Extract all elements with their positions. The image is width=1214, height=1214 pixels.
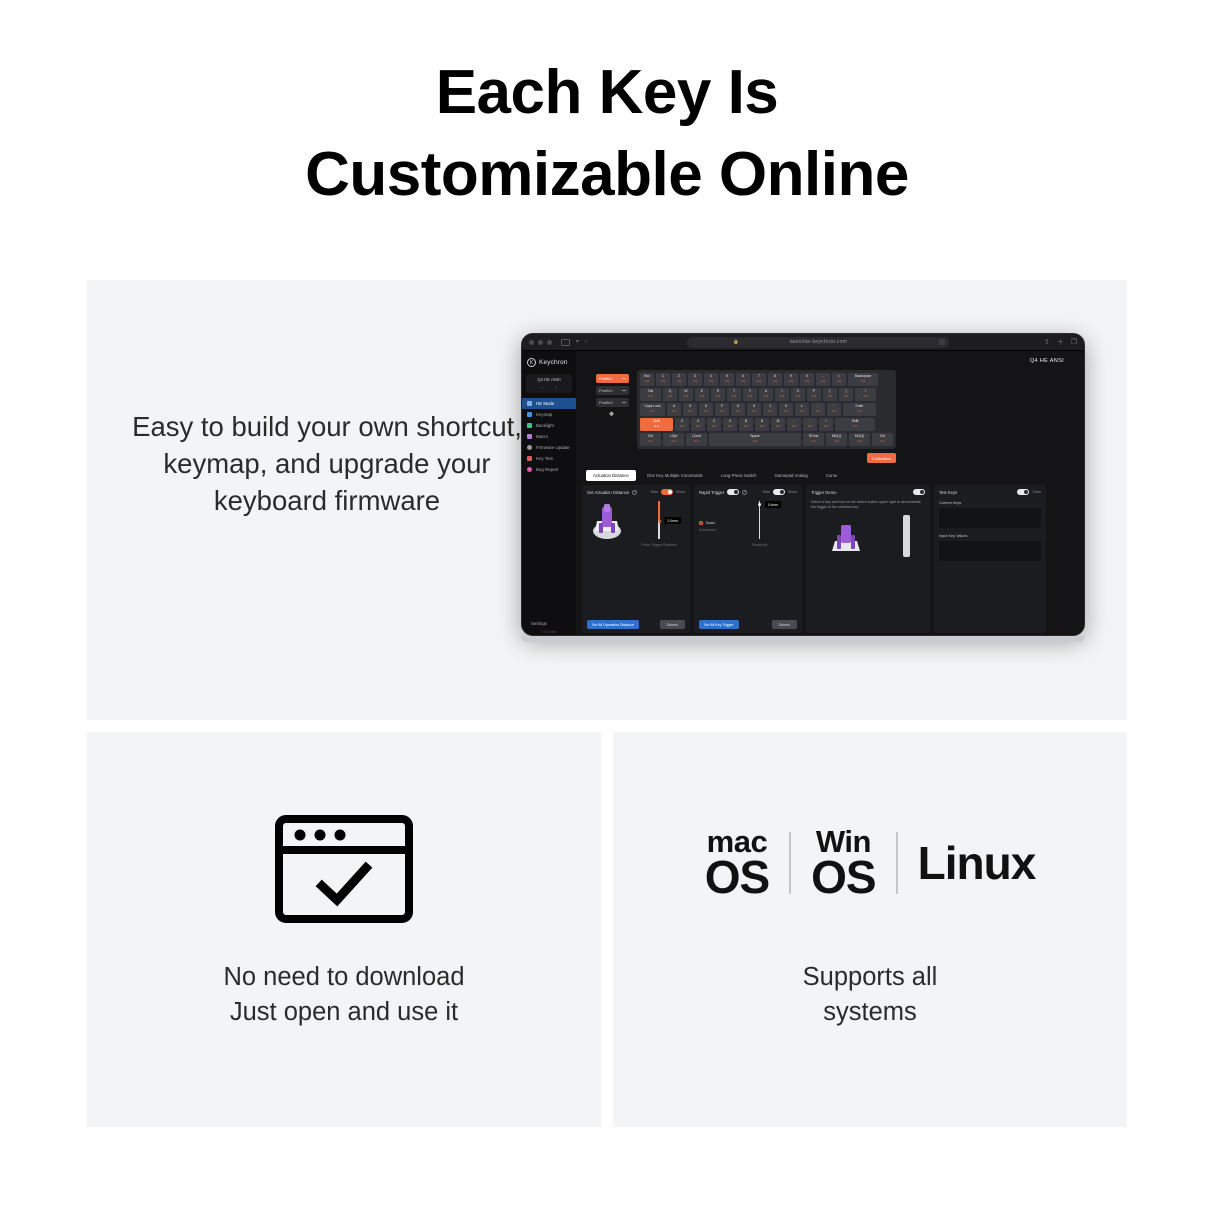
option-basic-label: Basic (706, 521, 715, 525)
key--[interactable]: .2.0 (803, 418, 817, 431)
key-actuation-value: 2.0 (696, 425, 700, 428)
option-advanced-label: Advanced (699, 528, 716, 532)
key-actuation-value: 2.0 (834, 440, 838, 443)
key-actuation-value: 2.0 (744, 425, 748, 428)
key-h[interactable]: H2.0 (747, 403, 761, 416)
key-space[interactable]: Space2.0 (709, 433, 801, 446)
key--[interactable]: =2.0 (832, 373, 846, 386)
laptop-base (521, 636, 1085, 642)
key-actuation-value: 2.0 (712, 425, 716, 428)
backlight-icon (527, 423, 532, 428)
key-actuation-value: 2.0 (796, 395, 800, 398)
os-linux: Linux (918, 842, 1036, 885)
key-6[interactable]: 62.0 (736, 373, 750, 386)
sidebar-label-keymap: Keymap (536, 412, 552, 417)
set-all-key-trigger-button[interactable]: Set All Key Trigger (699, 620, 739, 629)
key-z[interactable]: Z2.0 (675, 418, 689, 431)
key-actuation-value: 2.0 (863, 395, 867, 398)
profile-3-label: Profile3 (599, 400, 613, 405)
key-actuation-value: 2.0 (752, 410, 756, 413)
tab-actuation-distance[interactable]: Actuation Distance (586, 470, 636, 481)
profile-1-button[interactable]: Profile1 (596, 374, 629, 383)
rapid-trigger-enable-toggle[interactable] (727, 489, 739, 495)
key--[interactable]: \2.0 (855, 388, 876, 401)
minimize-icon[interactable] (538, 340, 543, 345)
keymap-icon (527, 412, 532, 417)
key-actuation-value: 2.0 (741, 380, 745, 383)
key-0[interactable]: 02.0 (800, 373, 814, 386)
key-actuation-value: 2.0 (732, 395, 736, 398)
test-keys-toggle[interactable] (1017, 489, 1029, 495)
sidebar-item-he-mode[interactable]: HE Mode (522, 398, 576, 409)
input-key-values-field[interactable] (939, 541, 1041, 561)
panel-title-rapid-trigger: Rapid Trigger (699, 490, 724, 495)
key-5[interactable]: 52.0 (720, 373, 734, 386)
os-logos: mac OS Win OS Linux (613, 827, 1127, 899)
actuation-submit-button[interactable]: Submit (660, 620, 685, 629)
key-actuation-value: 2.0 (716, 395, 720, 398)
panel-header: Set Actuation Distance ? Hide Show (587, 489, 685, 495)
launcher-app: K Keychron Q4 HE ANSI ⌁ ⌁ HE Mode (522, 351, 1084, 636)
key-actuation-value: 2.0 (728, 425, 732, 428)
lock-icon: 🔒 (733, 339, 739, 345)
profile-3-button[interactable]: Profile3 (596, 398, 629, 407)
key-esc[interactable]: Esc2.0 (640, 373, 654, 386)
key-a[interactable]: A2.0 (667, 403, 681, 416)
usb-icon: ⌁ (541, 385, 543, 390)
os-windows: Win OS (811, 827, 875, 899)
brand: K Keychron (522, 355, 576, 371)
device-status-icons: ⌁ ⌁ (526, 385, 572, 390)
key-actuation-value: 2.0 (725, 380, 729, 383)
key-actuation-value: 2.0 (757, 380, 761, 383)
key-b[interactable]: B2.0 (739, 418, 753, 431)
sidebar-label-key-test: Key Test (536, 456, 553, 461)
profile-2-label: Profile2 (599, 388, 613, 393)
browser-check-icon (274, 814, 414, 929)
key-actuation-value: 2.0 (648, 395, 652, 398)
actuation-visibility-toggle[interactable]: Hide Show (651, 489, 685, 495)
key-actuation-value: 2.0 (837, 380, 841, 383)
key-actuation-value: 2.0 (857, 410, 861, 413)
sidebar-label-firmware: Firmware Update (536, 445, 570, 450)
option-basic[interactable]: Basic (699, 521, 716, 525)
key--[interactable]: ;2.0 (811, 403, 825, 416)
calibration-button[interactable]: Calibration (867, 453, 896, 463)
key-actuation-value: 2.0 (645, 380, 649, 383)
macro-icon (527, 434, 532, 439)
key-actuation-value: 2.0 (824, 425, 828, 428)
key-mo-4-[interactable]: MO(4)2.0 (849, 433, 870, 446)
feature-card-no-download: No need to download Just open and use it (87, 732, 601, 1127)
key-rcmd[interactable]: RCmd2.0 (803, 433, 824, 446)
key-backspace[interactable]: Backspace2.0 (848, 373, 878, 386)
profile-column: Profile1 Profile2 Profile3 (596, 370, 629, 463)
key-k[interactable]: K2.0 (779, 403, 793, 416)
headline-line-1: Each Key Is (436, 58, 779, 127)
key-8[interactable]: 82.0 (768, 373, 782, 386)
key-actuation-value: 2.0 (668, 395, 672, 398)
key-actuation-value: 2.0 (700, 395, 704, 398)
key-actuation-value: 2.0 (720, 410, 724, 413)
sidebar-label-settings: Settings (531, 621, 547, 626)
toggle-switch[interactable] (661, 489, 673, 495)
bug-report-icon (527, 467, 532, 472)
key-actuation-value: 2.0 (671, 440, 675, 443)
profile-list: Profile1 Profile2 Profile3 (596, 370, 629, 407)
key--[interactable]: [2.0 (823, 388, 837, 401)
panel-title-trigger-demo: Trigger Demo (811, 490, 836, 495)
key-ctrl[interactable]: Ctrl2.0 (872, 433, 893, 446)
panel-header: Trigger Demo (811, 489, 925, 495)
key-f[interactable]: F2.0 (715, 403, 729, 416)
key-4[interactable]: 42.0 (704, 373, 718, 386)
sidebar-item-keymap[interactable]: Keymap (522, 409, 576, 420)
panel-test-keys: Test Keys Clear Current Keys Input Key V… (934, 485, 1046, 633)
device-name: Q4 HE ANSI (526, 377, 572, 382)
winos-bottom: OS (811, 856, 875, 899)
chevron-left-icon[interactable]: ‹ (585, 339, 587, 346)
slider-value-bubble: 0.4mm (765, 501, 781, 508)
key-actuation-value: 2.0 (805, 380, 809, 383)
keyboard-wrap: Esc2.012.022.032.042.052.062.072.082.092… (637, 370, 896, 463)
key-o[interactable]: O2.0 (791, 388, 805, 401)
he-mode-icon (527, 401, 532, 406)
settings-panels: Set Actuation Distance ? Hide Show (582, 485, 1078, 633)
firmware-icon (527, 445, 532, 450)
key-actuation-value: 2.0 (816, 410, 820, 413)
key-p[interactable]: P2.0 (807, 388, 821, 401)
key-m[interactable]: M2.0 (771, 418, 785, 431)
panel-header: Test Keys Clear (939, 489, 1041, 495)
trigger-depth-indicator (903, 515, 910, 557)
current-keys-field[interactable] (939, 508, 1041, 528)
panel-header: Rapid Trigger ? Hide Show (699, 489, 797, 495)
input-key-values-label: Input Key Values (939, 534, 1041, 538)
key-actuation-value: 2.0 (654, 425, 658, 428)
key-actuation-value: 2.0 (764, 395, 768, 398)
key-actuation-value: 2.0 (853, 425, 857, 428)
key-d[interactable]: D2.0 (699, 403, 713, 416)
key-actuation-value: 2.0 (808, 425, 812, 428)
key-actuation-value: 2.0 (776, 425, 780, 428)
key-actuation-value: 2.0 (780, 395, 784, 398)
feature-card-os-support: mac OS Win OS Linux Supports all systems (613, 732, 1127, 1127)
close-icon[interactable] (529, 340, 534, 345)
key-actuation-value: 2.0 (661, 380, 665, 383)
launcher-caption: Easy to build your own shortcut, keymap,… (127, 408, 527, 519)
rapid-submit-button[interactable]: Submit (772, 620, 797, 629)
key-1[interactable]: 12.0 (656, 373, 670, 386)
key-actuation-value: 2.0 (753, 440, 757, 443)
key-test-icon (527, 456, 532, 461)
slider-track[interactable]: 2.0mm (658, 501, 659, 539)
os-support-line-1: Supports all (613, 960, 1127, 995)
tab-curve[interactable]: Curve (819, 470, 844, 481)
key-shift[interactable]: Shift2.0 (640, 418, 673, 431)
key-actuation-value: 2.0 (648, 440, 652, 443)
key-actuation-value: 2.0 (821, 380, 825, 383)
tab-one-key-multiple-commands[interactable]: One Key Multiple Commands (640, 470, 710, 481)
headline-line-2: Customizable Online (0, 134, 1214, 216)
tab-gamepad-analog[interactable]: Gamepad Analog (768, 470, 815, 481)
browser-chrome: ▾ ‹ 🔒 launcher.keychron.com ⇪ ＋ ❐ (522, 334, 1084, 351)
sidebar-item-bug-report[interactable]: Bug Report (522, 464, 576, 475)
plus-icon[interactable]: ＋ (1057, 337, 1064, 347)
key-x[interactable]: X2.0 (691, 418, 705, 431)
sidebar-item-settings[interactable]: Settings (522, 621, 576, 626)
trigger-switch-image (826, 517, 866, 557)
key-t[interactable]: T2.0 (727, 388, 741, 401)
profile-2-handle (622, 390, 626, 391)
key-actuation-value: 2.0 (736, 410, 740, 413)
linux-label: Linux (918, 842, 1036, 885)
keyboard-row: Shift2.0Z2.0X2.0C2.0V2.0B2.0N2.0M2.0,2.0… (640, 418, 893, 431)
sidebar-item-firmware-update[interactable]: Firmware Update (522, 442, 576, 453)
key-lopt[interactable]: LOpt2.0 (663, 433, 684, 446)
sidebar-icon[interactable] (561, 339, 570, 346)
sidebar-item-key-test[interactable]: Key Test (522, 453, 576, 464)
chrome-actions: ⇪ ＋ ❐ (1044, 337, 1077, 347)
sidebar-label-macro: Macro (536, 434, 548, 439)
current-keys-label: Current Keys (939, 501, 1041, 505)
app-main: Q4 HE ANSI Profile1 Profile2 (576, 351, 1084, 636)
key-9[interactable]: 92.0 (784, 373, 798, 386)
key-actuation-value: 2.0 (768, 410, 772, 413)
key-i[interactable]: I2.0 (775, 388, 789, 401)
keychron-logo-icon: K (527, 358, 536, 367)
macos-bottom: OS (705, 856, 769, 899)
panel-actuation-distance: Set Actuation Distance ? Hide Show (582, 485, 690, 633)
keyboard-layout: Esc2.012.022.032.042.052.062.072.082.092… (637, 370, 896, 449)
url-text: launcher.keychron.com (790, 339, 848, 345)
key-n[interactable]: N2.0 (755, 418, 769, 431)
panel-title-test-keys: Test Keys (939, 490, 957, 495)
key-actuation-value: 2.0 (812, 395, 816, 398)
key-shift[interactable]: Shift2.0 (835, 418, 875, 431)
panel-title-actuation: Set Actuation Distance (587, 490, 629, 495)
sensitivity-slider[interactable]: 0.4mm Sensitivity (722, 501, 797, 551)
slider-knob[interactable] (758, 503, 761, 506)
key-w[interactable]: W2.0 (679, 388, 693, 401)
key-actuation-value: 2.0 (800, 410, 804, 413)
question-icon[interactable]: ? (742, 490, 747, 495)
slider-caption: Sensitivity (752, 543, 768, 547)
zoom-icon[interactable] (547, 340, 552, 345)
key-s[interactable]: S2.0 (683, 403, 697, 416)
key-lcmd[interactable]: LCmd2.0 (686, 433, 707, 446)
profile-1-label: Profile1 (599, 376, 613, 381)
key-actuation-value: 2.0 (688, 410, 692, 413)
hide-label: Hide (763, 490, 770, 494)
sidebar-item-macro[interactable]: Macro (522, 431, 576, 442)
share-icon[interactable]: ⇪ (1044, 338, 1050, 346)
key--[interactable]: ,2.0 (787, 418, 801, 431)
address-bar[interactable]: 🔒 launcher.keychron.com (687, 337, 949, 348)
key-actuation-value: 2.0 (811, 440, 815, 443)
os-support-caption: Supports all systems (613, 960, 1127, 1029)
show-label: Show (788, 490, 797, 494)
mouse-cursor-icon: ✥ (609, 411, 629, 418)
actuation-slider[interactable]: 2.0mm Press Trigger Distance (633, 501, 685, 551)
key-e[interactable]: E2.0 (695, 388, 709, 401)
key-actuation-value: 2.0 (694, 440, 698, 443)
sidebar-item-backlight[interactable]: Backlight (522, 420, 576, 431)
keyboard-title: Q4 HE ANSI (1030, 358, 1064, 364)
profile-2-button[interactable]: Profile2 (596, 386, 629, 395)
sidebar-label-he-mode: HE Mode (536, 401, 554, 406)
reader-icon[interactable] (939, 339, 945, 345)
browser-window-mock: ▾ ‹ 🔒 launcher.keychron.com ⇪ ＋ ❐ (521, 333, 1085, 636)
key-caps-lock[interactable]: Caps Lock2.0 (640, 403, 665, 416)
key-tab[interactable]: Tab2.0 (640, 388, 661, 401)
key-u[interactable]: U2.0 (759, 388, 773, 401)
key-y[interactable]: Y2.0 (743, 388, 757, 401)
key-actuation-value: 2.0 (677, 380, 681, 383)
switch-render-image (587, 501, 627, 541)
slider-knob[interactable] (658, 520, 661, 523)
sidebar-label-backlight: Backlight (536, 423, 554, 428)
no-download-line-1: No need to download (87, 960, 601, 995)
key-v[interactable]: V2.0 (723, 418, 737, 431)
key-enter[interactable]: Enter2.0 (843, 403, 876, 416)
key-actuation-value: 2.0 (832, 410, 836, 413)
key-j[interactable]: J2.0 (763, 403, 777, 416)
battery-icon: ⌁ (555, 385, 557, 390)
slider-track[interactable]: 0.4mm (759, 501, 760, 539)
key-actuation-value: 2.0 (861, 380, 865, 383)
key-actuation-value: 2.0 (844, 395, 848, 398)
page-title: Each Key Is Customizable Online (0, 0, 1214, 217)
key-7[interactable]: 72.0 (752, 373, 766, 386)
key-actuation-value: 2.0 (748, 395, 752, 398)
keyboard-zone: Profile1 Profile2 Profile3 (582, 370, 1078, 463)
profile-3-handle (622, 402, 626, 403)
trigger-demo-toggle[interactable] (913, 489, 925, 495)
key-actuation-value: 2.0 (693, 380, 697, 383)
os-macos: mac OS (705, 827, 769, 899)
key-actuation-value: 2.0 (672, 410, 676, 413)
show-label: Show (676, 490, 685, 494)
tabs-icon[interactable]: ❐ (1071, 338, 1077, 346)
key-actuation-value: 2.0 (789, 380, 793, 383)
key-actuation-value: 2.0 (704, 410, 708, 413)
key--[interactable]: ]2.0 (839, 388, 853, 401)
tab-long-press-switch[interactable]: Long-Press Switch (714, 470, 764, 481)
key--[interactable]: /2.0 (819, 418, 833, 431)
brand-name: Keychron (539, 359, 568, 366)
device-card[interactable]: Q4 HE ANSI ⌁ ⌁ (526, 374, 572, 393)
key-actuation-value: 2.0 (880, 440, 884, 443)
trigger-demo-description: Select a key and turn on the switch butt… (811, 500, 925, 511)
key-q[interactable]: Q2.0 (663, 388, 677, 401)
key-c[interactable]: C2.0 (707, 418, 721, 431)
key-actuation-value: 2.0 (650, 410, 654, 413)
key--[interactable]: -2.0 (816, 373, 830, 386)
chevron-down-icon[interactable]: ▾ (576, 339, 579, 346)
sidebar-label-bug-report: Bug Report (536, 467, 558, 472)
feature-tabs: Actuation Distance One Key Multiple Comm… (586, 470, 1078, 481)
divider (896, 832, 898, 894)
radio-icon (699, 521, 703, 525)
key-actuation-value: 2.0 (684, 395, 688, 398)
key-mo-1-[interactable]: MO(1)2.0 (826, 433, 847, 446)
divider (789, 832, 791, 894)
feature-card-launcher: Easy to build your own shortcut, keymap,… (87, 280, 1127, 720)
question-icon[interactable]: ? (632, 490, 637, 495)
keyboard-row: Caps Lock2.0A2.0S2.0D2.0F2.0G2.0H2.0J2.0… (640, 403, 893, 416)
key-actuation-value: 2.0 (709, 380, 713, 383)
key-r[interactable]: R2.0 (711, 388, 725, 401)
app-sidebar: K Keychron Q4 HE ANSI ⌁ ⌁ HE Mode (522, 351, 576, 636)
rapid-visibility-toggle[interactable]: Hide Show (763, 489, 797, 495)
sidebar-nav: HE Mode Keymap Backlight Macro (522, 398, 576, 475)
toggle-switch[interactable] (773, 489, 785, 495)
app-version: 1.6.3 beta (522, 630, 576, 634)
key-actuation-value: 2.0 (680, 425, 684, 428)
no-download-caption: No need to download Just open and use it (87, 960, 601, 1029)
option-advanced[interactable]: Advanced (699, 528, 716, 532)
no-download-line-2: Just open and use it (87, 995, 601, 1030)
key--[interactable]: '2.0 (827, 403, 841, 416)
slider-value-bubble: 2.0mm (664, 517, 680, 524)
hide-label: Hide (651, 490, 658, 494)
key-3[interactable]: 32.0 (688, 373, 702, 386)
os-support-line-2: systems (613, 995, 1127, 1030)
promo-page: Each Key Is Customizable Online Easy to … (0, 0, 1214, 1214)
keyboard-row: Ctrl2.0LOpt2.0LCmd2.0Space2.0RCmd2.0MO(1… (640, 433, 893, 446)
key-actuation-value: 2.0 (773, 380, 777, 383)
key-actuation-value: 2.0 (784, 410, 788, 413)
key-actuation-value: 2.0 (760, 425, 764, 428)
key-g[interactable]: G2.0 (731, 403, 745, 416)
panel-rapid-trigger: Rapid Trigger ? Hide Show (694, 485, 802, 633)
key-l[interactable]: L2.0 (795, 403, 809, 416)
rapid-trigger-mode-options: Basic Advanced (699, 501, 716, 551)
panel-trigger-demo: Trigger Demo Select a key and turn on th… (806, 485, 930, 633)
keyboard-row: Tab2.0Q2.0W2.0E2.0R2.0T2.0Y2.0U2.0I2.0O2… (640, 388, 893, 401)
traffic-lights[interactable] (529, 340, 552, 345)
key-ctrl[interactable]: Ctrl2.0 (640, 433, 661, 446)
key-2[interactable]: 22.0 (672, 373, 686, 386)
clear-button[interactable]: Clear (1032, 490, 1041, 494)
set-all-operation-distance-button[interactable]: Set All Operation Distance (587, 620, 639, 629)
key-actuation-value: 2.0 (792, 425, 796, 428)
profile-1-handle (622, 378, 626, 379)
key-actuation-value: 2.0 (828, 395, 832, 398)
slider-caption: Press Trigger Distance (641, 543, 676, 547)
keyboard-row: Esc2.012.022.032.042.052.062.072.082.092… (640, 373, 893, 386)
key-actuation-value: 2.0 (857, 440, 861, 443)
